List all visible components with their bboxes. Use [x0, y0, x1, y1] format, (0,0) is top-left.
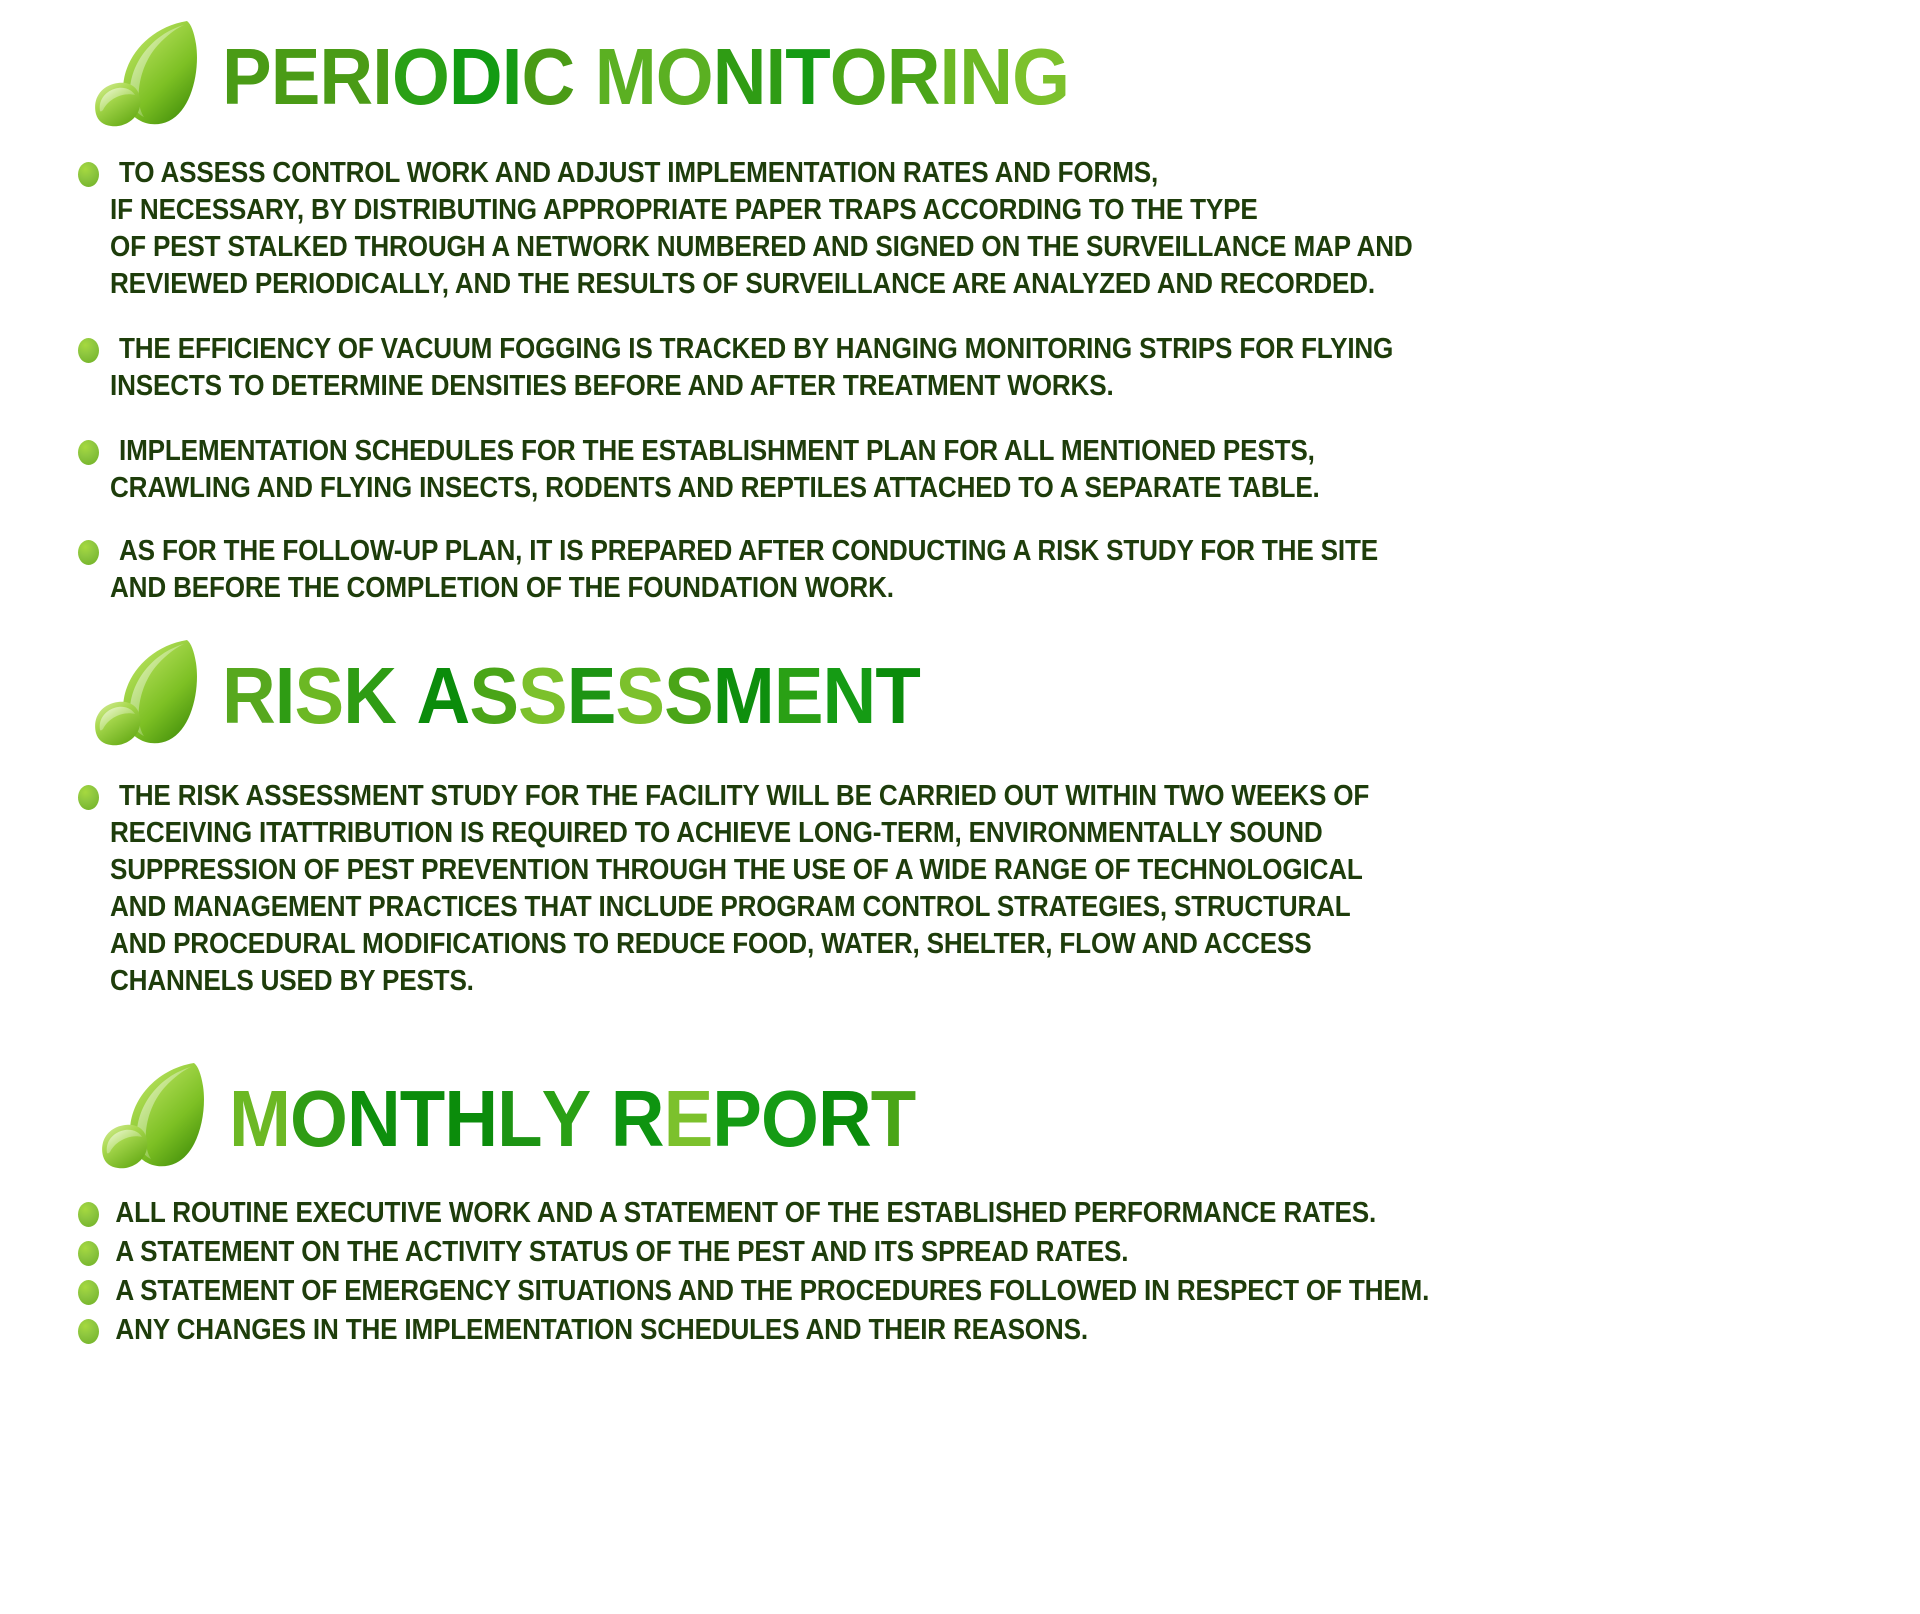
- list-item: THE EFFICIENCY OF VACUUM FOGGING IS TRAC…: [70, 331, 1920, 405]
- list-item: A STATEMENT OF EMERGENCY SITUATIONS AND …: [70, 1273, 1920, 1310]
- bullet-dot-icon: [78, 162, 99, 187]
- list-item-text: A STATEMENT ON THE ACTIVITY STATUS OF TH…: [110, 1234, 1918, 1271]
- text-line: OF PEST STALKED THROUGH A NETWORK NUMBER…: [110, 229, 1918, 266]
- leaf-logo-icon: [78, 633, 228, 758]
- list-item-text: THE RISK ASSESSMENT STUDY FOR THE FACILI…: [110, 778, 1918, 1000]
- list-item: A STATEMENT ON THE ACTIVITY STATUS OF TH…: [70, 1234, 1920, 1271]
- bullet-dot-icon: [78, 540, 99, 565]
- leaf-logo-icon: [78, 14, 228, 139]
- text-line: AND BEFORE THE COMPLETION OF THE FOUNDAT…: [110, 570, 1918, 607]
- bullet-list-risk-assessment: THE RISK ASSESSMENT STUDY FOR THE FACILI…: [70, 778, 1920, 1000]
- list-item-text: THE EFFICIENCY OF VACUUM FOGGING IS TRAC…: [110, 331, 1918, 405]
- list-item: IMPLEMENTATION SCHEDULES FOR THE ESTABLI…: [70, 433, 1920, 507]
- bullet-dot-icon: [78, 1202, 99, 1227]
- text-line: REVIEWED PERIODICALLY, AND THE RESULTS O…: [110, 266, 1918, 303]
- slide-page: PERIODICMONITORING TO ASSESS CONTROL WOR…: [0, 14, 1920, 1614]
- text-line: IF NECESSARY, BY DISTRIBUTING APPROPRIAT…: [110, 192, 1918, 229]
- section-header-monthly-report: MONTHLYREPORT: [85, 1056, 1920, 1181]
- list-item-text: TO ASSESS CONTROL WORK AND ADJUST IMPLEM…: [110, 155, 1918, 303]
- list-item-text: IMPLEMENTATION SCHEDULES FOR THE ESTABLI…: [110, 433, 1918, 507]
- bullet-dot-icon: [78, 338, 99, 363]
- bullet-dot-icon: [78, 1319, 99, 1344]
- section-title-monthly-report: MONTHLYREPORT: [229, 1079, 915, 1159]
- section-header-risk-assessment: RISKASSESSMENT: [78, 633, 1920, 758]
- list-item-text: A STATEMENT OF EMERGENCY SITUATIONS AND …: [110, 1273, 1918, 1310]
- section-title-periodic-monitoring: PERIODICMONITORING: [222, 37, 1069, 117]
- text-line: SUPPRESSION OF PEST PREVENTION THROUGH T…: [110, 852, 1918, 889]
- list-item-text: ANY CHANGES IN THE IMPLEMENTATION SCHEDU…: [110, 1312, 1918, 1349]
- text-line: A STATEMENT OF EMERGENCY SITUATIONS AND …: [110, 1273, 1918, 1310]
- text-line: INSECTS TO DETERMINE DENSITIES BEFORE AN…: [110, 368, 1918, 405]
- bullet-list-periodic-monitoring: TO ASSESS CONTROL WORK AND ADJUST IMPLEM…: [70, 155, 1920, 607]
- text-line: TO ASSESS CONTROL WORK AND ADJUST IMPLEM…: [110, 155, 1918, 192]
- list-item: AS FOR THE FOLLOW-UP PLAN, IT IS PREPARE…: [70, 533, 1920, 607]
- list-item-text: ALL ROUTINE EXECUTIVE WORK AND A STATEME…: [110, 1195, 1918, 1232]
- text-line: IMPLEMENTATION SCHEDULES FOR THE ESTABLI…: [110, 433, 1918, 470]
- text-line: RECEIVING ITATTRIBUTION IS REQUIRED TO A…: [110, 815, 1918, 852]
- text-line: THE RISK ASSESSMENT STUDY FOR THE FACILI…: [110, 778, 1918, 815]
- section-title-risk-assessment: RISKASSESSMENT: [222, 656, 920, 736]
- list-item: ANY CHANGES IN THE IMPLEMENTATION SCHEDU…: [70, 1312, 1920, 1349]
- bullet-list-monthly-report: ALL ROUTINE EXECUTIVE WORK AND A STATEME…: [70, 1195, 1920, 1349]
- bullet-dot-icon: [78, 440, 99, 465]
- bullet-dot-icon: [78, 1241, 99, 1266]
- list-item: TO ASSESS CONTROL WORK AND ADJUST IMPLEM…: [70, 155, 1920, 303]
- bullet-dot-icon: [78, 1280, 99, 1305]
- text-line: THE EFFICIENCY OF VACUUM FOGGING IS TRAC…: [110, 331, 1918, 368]
- bullet-dot-icon: [78, 785, 99, 810]
- text-line: AND PROCEDURAL MODIFICATIONS TO REDUCE F…: [110, 926, 1918, 963]
- text-line: ALL ROUTINE EXECUTIVE WORK AND A STATEME…: [110, 1195, 1918, 1232]
- text-line: A STATEMENT ON THE ACTIVITY STATUS OF TH…: [110, 1234, 1918, 1271]
- text-line: ANY CHANGES IN THE IMPLEMENTATION SCHEDU…: [110, 1312, 1918, 1349]
- text-line: AND MANAGEMENT PRACTICES THAT INCLUDE PR…: [110, 889, 1918, 926]
- text-line: CHANNELS USED BY PESTS.: [110, 963, 1918, 1000]
- text-line: CRAWLING AND FLYING INSECTS, RODENTS AND…: [110, 470, 1918, 507]
- leaf-logo-icon: [85, 1056, 235, 1181]
- section-header-periodic-monitoring: PERIODICMONITORING: [78, 14, 1920, 139]
- list-item-text: AS FOR THE FOLLOW-UP PLAN, IT IS PREPARE…: [110, 533, 1918, 607]
- list-item: THE RISK ASSESSMENT STUDY FOR THE FACILI…: [70, 778, 1920, 1000]
- list-item: ALL ROUTINE EXECUTIVE WORK AND A STATEME…: [70, 1195, 1920, 1232]
- text-line: AS FOR THE FOLLOW-UP PLAN, IT IS PREPARE…: [110, 533, 1918, 570]
